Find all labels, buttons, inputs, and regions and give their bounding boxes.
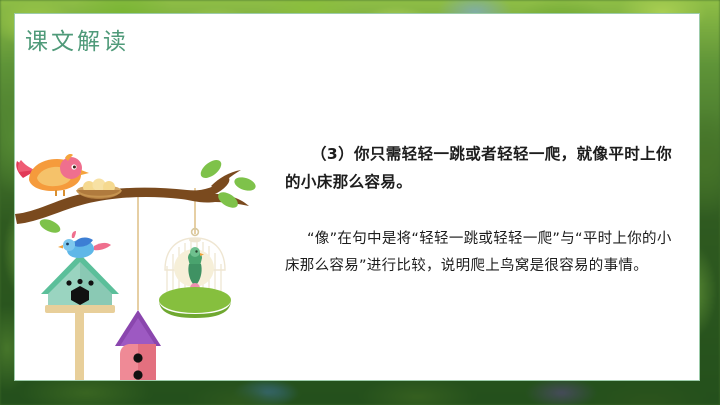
slide: 课文解读 (0, 0, 720, 405)
hanging-birdhouse (115, 310, 161, 381)
page-title: 课文解读 (25, 22, 129, 56)
text-column: （3）你只需轻轻一跳或者轻轻一爬，就像平时上你的小床那么容易。 “像”在句中是将… (285, 124, 685, 294)
mint-birdhouse (41, 231, 119, 381)
birds-branch-illustration (15, 142, 263, 381)
explanation-paragraph: “像”在句中是将“轻轻一跳或轻轻一爬”与“平时上你的小床那么容易”进行比较，说明… (285, 226, 685, 280)
birdcage (159, 229, 231, 318)
quote-paragraph: （3）你只需轻轻一跳或者轻轻一爬，就像平时上你的小床那么容易。 (285, 140, 685, 196)
content-panel: 课文解读 (14, 13, 700, 381)
bird-nest (77, 179, 121, 200)
blue-bird (58, 231, 111, 258)
